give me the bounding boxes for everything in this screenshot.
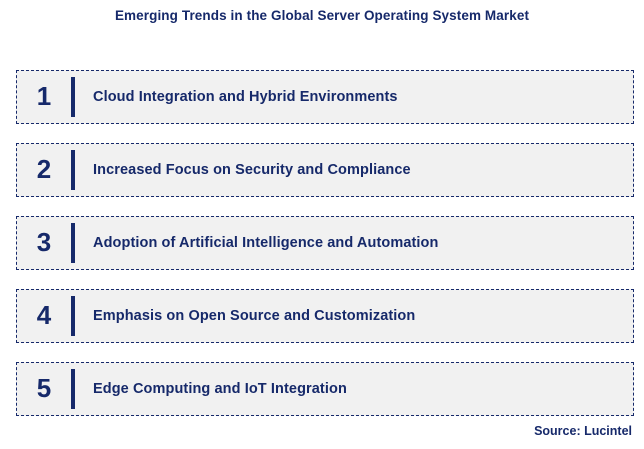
trend-row: 2 Increased Focus on Security and Compli… xyxy=(16,143,634,197)
trend-label: Emphasis on Open Source and Customizatio… xyxy=(75,308,633,324)
trend-label: Edge Computing and IoT Integration xyxy=(75,381,633,397)
trend-row: 3 Adoption of Artificial Intelligence an… xyxy=(16,216,634,270)
trend-row: 5 Edge Computing and IoT Integration xyxy=(16,362,634,416)
trend-row: 1 Cloud Integration and Hybrid Environme… xyxy=(16,70,634,124)
trend-rank-number: 2 xyxy=(17,156,71,184)
page-title: Emerging Trends in the Global Server Ope… xyxy=(0,8,644,23)
source-attribution: Source: Lucintel xyxy=(534,424,632,438)
trend-label: Adoption of Artificial Intelligence and … xyxy=(75,235,633,251)
trend-rank-number: 3 xyxy=(17,229,71,257)
trend-label: Increased Focus on Security and Complian… xyxy=(75,162,633,178)
trend-rank-number: 1 xyxy=(17,83,71,111)
trend-label: Cloud Integration and Hybrid Environment… xyxy=(75,89,633,105)
trend-rank-number: 5 xyxy=(17,375,71,403)
trend-list: 1 Cloud Integration and Hybrid Environme… xyxy=(16,70,634,416)
infographic-page: Emerging Trends in the Global Server Ope… xyxy=(0,0,644,449)
trend-rank-number: 4 xyxy=(17,302,71,330)
trend-row: 4 Emphasis on Open Source and Customizat… xyxy=(16,289,634,343)
